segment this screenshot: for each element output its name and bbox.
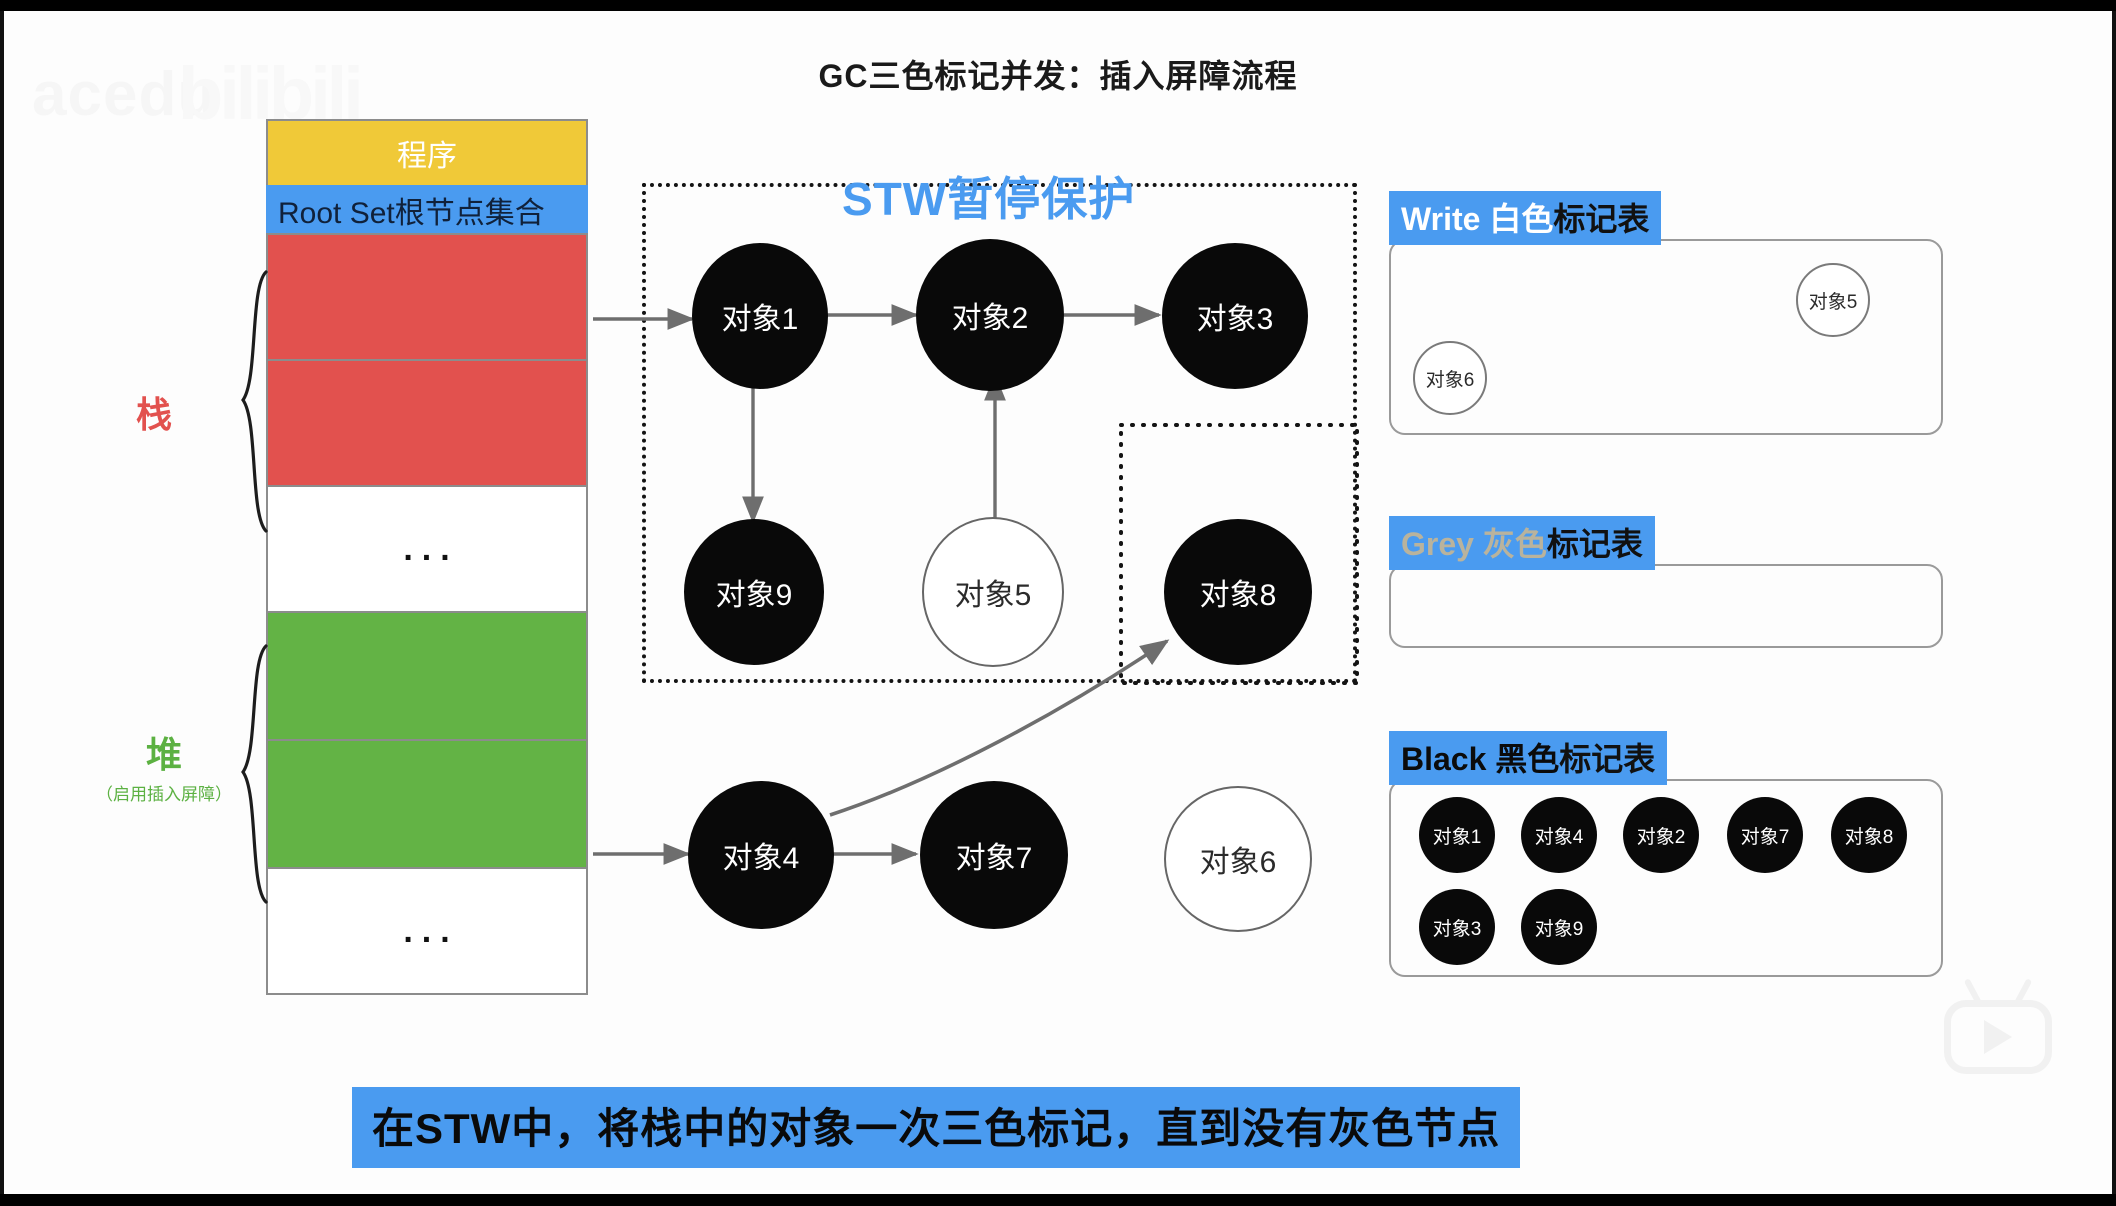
black-mark-table-header: Black 黑色标记表 — [1389, 731, 1667, 785]
slide-canvas: acedu bilibili GC三色标记并发：插入屏障流程 程序 Root S… — [4, 11, 2112, 1194]
graph-node-object4[interactable]: 对象4 — [688, 781, 834, 929]
white-mark-table-header: Write 白色标记表 — [1389, 191, 1661, 245]
memory-cell-stack-1 — [266, 233, 588, 361]
black-table-chip-object9[interactable]: 对象9 — [1521, 889, 1597, 965]
letterbox-bottom — [0, 1194, 2116, 1206]
white-table-label-suffix: 标记表 — [1553, 201, 1649, 237]
graph-node-object7[interactable]: 对象7 — [920, 781, 1068, 929]
graph-node-object3[interactable]: 对象3 — [1162, 243, 1308, 389]
white-table-chip-object5[interactable]: 对象5 — [1796, 263, 1870, 337]
letterbox-right — [2112, 11, 2116, 1194]
memory-cell-heap-1 — [266, 611, 588, 741]
heap-label: 堆 — [84, 736, 244, 774]
graph-node-object1[interactable]: 对象1 — [692, 243, 828, 389]
black-table-label-color: 黑色 — [1495, 741, 1559, 777]
memory-column: 程序 Root Set根节点集合 ... ... — [266, 119, 588, 995]
white-mark-table-body: 对象5 对象6 — [1389, 239, 1943, 435]
white-table-label-color: 白色 — [1489, 201, 1553, 237]
bottom-caption: 在STW中，将栈中的对象一次三色标记，直到没有灰色节点 — [352, 1087, 1520, 1168]
black-table-label-suffix: 标记表 — [1559, 741, 1655, 777]
grey-mark-table-header: Grey 灰色标记表 — [1389, 516, 1655, 570]
black-table-chip-object2[interactable]: 对象2 — [1623, 797, 1699, 873]
stack-label: 栈 — [136, 386, 172, 438]
graph-node-object2[interactable]: 对象2 — [916, 239, 1064, 391]
white-table-label-en: Write — [1401, 201, 1480, 237]
grey-mark-table-body — [1389, 564, 1943, 648]
stack-brace — [236, 269, 272, 534]
bilibili-tv-play-icon — [1944, 978, 2054, 1074]
grey-table-label-suffix: 标记表 — [1547, 526, 1643, 562]
graph-node-object8[interactable]: 对象8 — [1164, 519, 1312, 665]
black-table-chip-object4[interactable]: 对象4 — [1521, 797, 1597, 873]
memory-cell-heap-ellipsis: ... — [266, 867, 588, 995]
page-title: GC三色标记并发：插入屏障流程 — [4, 51, 2112, 97]
letterbox-top — [0, 0, 2116, 11]
memory-cell-program: 程序 — [266, 119, 588, 187]
video-frame: acedu bilibili GC三色标记并发：插入屏障流程 程序 Root S… — [0, 0, 2116, 1206]
grey-table-label-color: 灰色 — [1483, 526, 1547, 562]
tv-body-icon — [1944, 1000, 2052, 1074]
white-table-chip-object6[interactable]: 对象6 — [1413, 341, 1487, 415]
tv-ear-left-icon — [1964, 978, 1982, 1006]
play-triangle-icon — [1984, 1020, 2012, 1054]
graph-node-object9[interactable]: 对象9 — [684, 519, 824, 665]
memory-cell-rootset: Root Set根节点集合 — [266, 185, 588, 235]
black-table-chip-object8[interactable]: 对象8 — [1831, 797, 1907, 873]
tv-ear-right-icon — [2014, 978, 2032, 1006]
heap-label-group: 堆 （启用插入屏障） — [84, 736, 244, 805]
memory-cell-heap-2 — [266, 739, 588, 869]
black-table-chip-object3[interactable]: 对象3 — [1419, 889, 1495, 965]
black-table-chip-object7[interactable]: 对象7 — [1727, 797, 1803, 873]
memory-cell-stack-ellipsis: ... — [266, 485, 588, 613]
black-table-chip-object1[interactable]: 对象1 — [1419, 797, 1495, 873]
black-table-label-en: Black — [1401, 741, 1486, 777]
grey-table-label-en: Grey — [1401, 526, 1474, 562]
stw-label: STW暂停保护 — [842, 163, 1135, 229]
black-mark-table-body: 对象1 对象4 对象2 对象7 对象8 对象3 对象9 — [1389, 779, 1943, 977]
heap-sub-label: （启用插入屏障） — [84, 780, 244, 805]
memory-cell-stack-2 — [266, 359, 588, 487]
graph-node-object6[interactable]: 对象6 — [1164, 786, 1312, 932]
graph-node-object5[interactable]: 对象5 — [922, 517, 1064, 667]
